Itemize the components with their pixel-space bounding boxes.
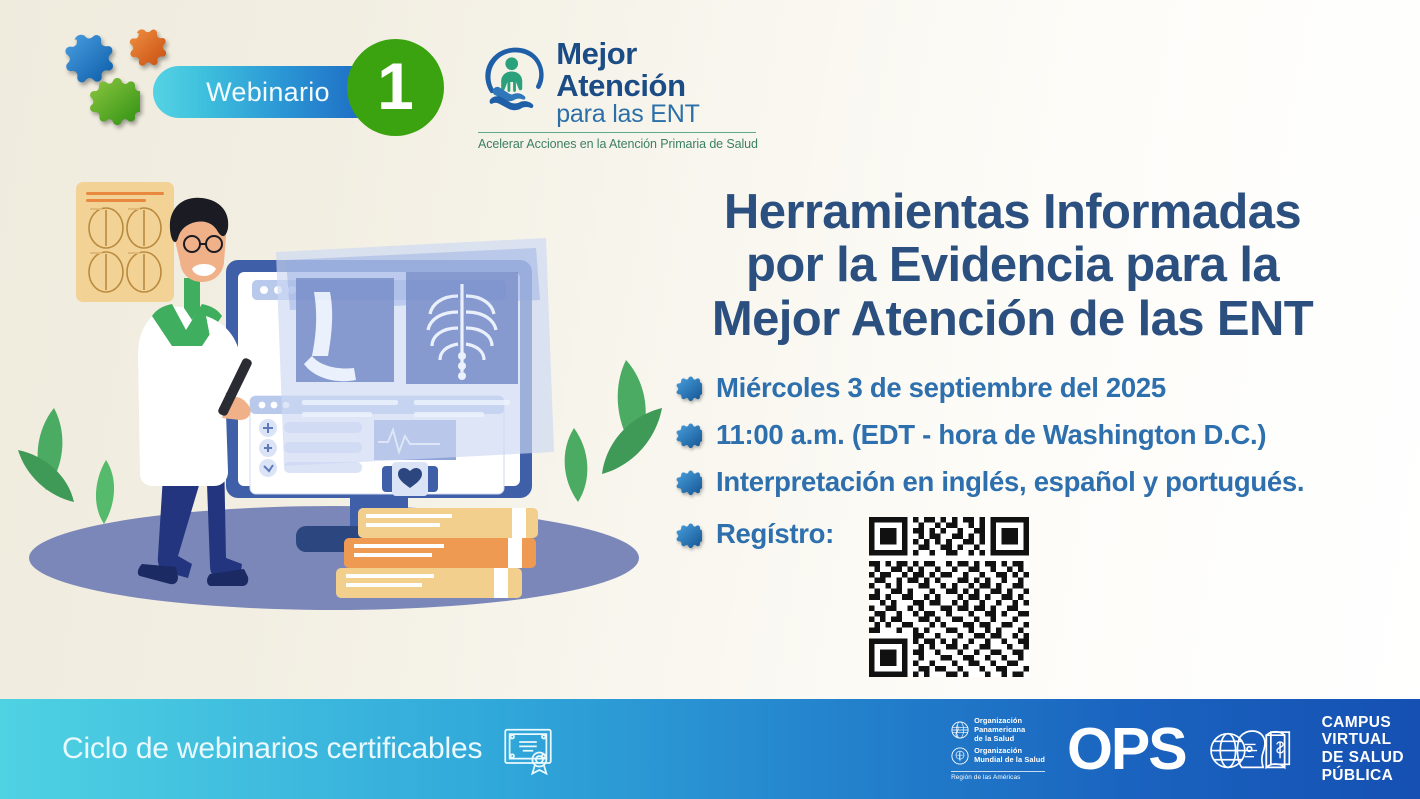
list-item: Interpretación en inglés, español y port… [676, 466, 1406, 498]
brand-logo-tagline: Acelerar Acciones en la Atención Primari… [478, 137, 768, 151]
webinar-label-text: Webinario [206, 77, 330, 108]
list-item: Miércoles 3 de septiembre del 2025 [676, 372, 1406, 404]
cvsp-line-1: CAMPUS [1322, 714, 1404, 732]
xray-overlay-panel [276, 238, 554, 466]
paho-region-label: Región de las Américas [951, 771, 1045, 781]
brain-scan-poster [76, 182, 174, 302]
doctor-presenting-xray-monitor-illustration [14, 160, 664, 620]
puzzle-piece-green-icon [88, 75, 140, 130]
heart-icon [382, 462, 438, 496]
registration-row: Regístro: [676, 512, 834, 550]
footer-tagline: Ciclo de webinarios certificables [62, 732, 482, 766]
paho-logo: Organización Panamericana de la Salud Or… [951, 717, 1045, 780]
brand-logo-line2: para las ENT [556, 101, 768, 127]
puzzle-bullet-icon [676, 375, 702, 401]
list-item-label: Miércoles 3 de septiembre del 2025 [716, 372, 1166, 404]
puzzle-piece-orange-icon [122, 28, 166, 75]
book-stack [336, 508, 538, 598]
who-emblem-icon [951, 747, 969, 765]
floor-shadow [29, 506, 639, 610]
webinar-number-badge: 1 [347, 39, 444, 136]
paho-globe-icon [951, 721, 969, 739]
qr-code-registration[interactable] [869, 517, 1029, 677]
ops-acronym: OPS [1067, 720, 1186, 779]
event-details-list: Miércoles 3 de septiembre del 2025 11:00… [676, 372, 1406, 513]
title-line-2: por la Evidencia para la [640, 239, 1385, 292]
cvsp-line-2: VIRTUAL [1322, 731, 1404, 749]
list-item: 11:00 a.m. (EDT - hora de Washington D.C… [676, 419, 1406, 451]
cvsp-line-4: PÚBLICA [1322, 767, 1404, 785]
cvsp-line-3: DE SALUD [1322, 749, 1404, 767]
who-name-line2: Mundial de la Salud [974, 756, 1045, 765]
title-line-3: Mejor Atención de las ENT [640, 293, 1385, 346]
globe-face-book-icon [1208, 718, 1300, 780]
puzzle-bullet-icon [676, 522, 702, 548]
list-item-label: 11:00 a.m. (EDT - hora de Washington D.C… [716, 419, 1266, 451]
registration-label: Regístro: [716, 512, 834, 550]
footer-bar: Ciclo de webinarios certificables [0, 699, 1420, 799]
paho-name-line3: de la Salud [974, 735, 1025, 744]
list-item-label: Interpretación en inglés, español y port… [716, 466, 1304, 498]
puzzle-bullet-icon [676, 469, 702, 495]
puzzle-bullet-icon [676, 422, 702, 448]
webinar-poster: Webinario 1 Mejor Atención para las ENT … [0, 0, 1420, 799]
brand-logo: Mejor Atención para las ENT Acelerar Acc… [478, 36, 768, 151]
brand-logo-divider [478, 132, 756, 133]
certificate-award-icon [500, 721, 556, 777]
page-title: Herramientas Informadas por la Evidencia… [640, 186, 1385, 346]
webinar-number-text: 1 [377, 53, 414, 119]
person-in-hand-circle-icon [478, 45, 548, 119]
campus-virtual-label: CAMPUS VIRTUAL DE SALUD PÚBLICA [1322, 714, 1404, 785]
brand-logo-line1: Mejor Atención [556, 38, 768, 101]
title-line-1: Herramientas Informadas [640, 186, 1385, 239]
